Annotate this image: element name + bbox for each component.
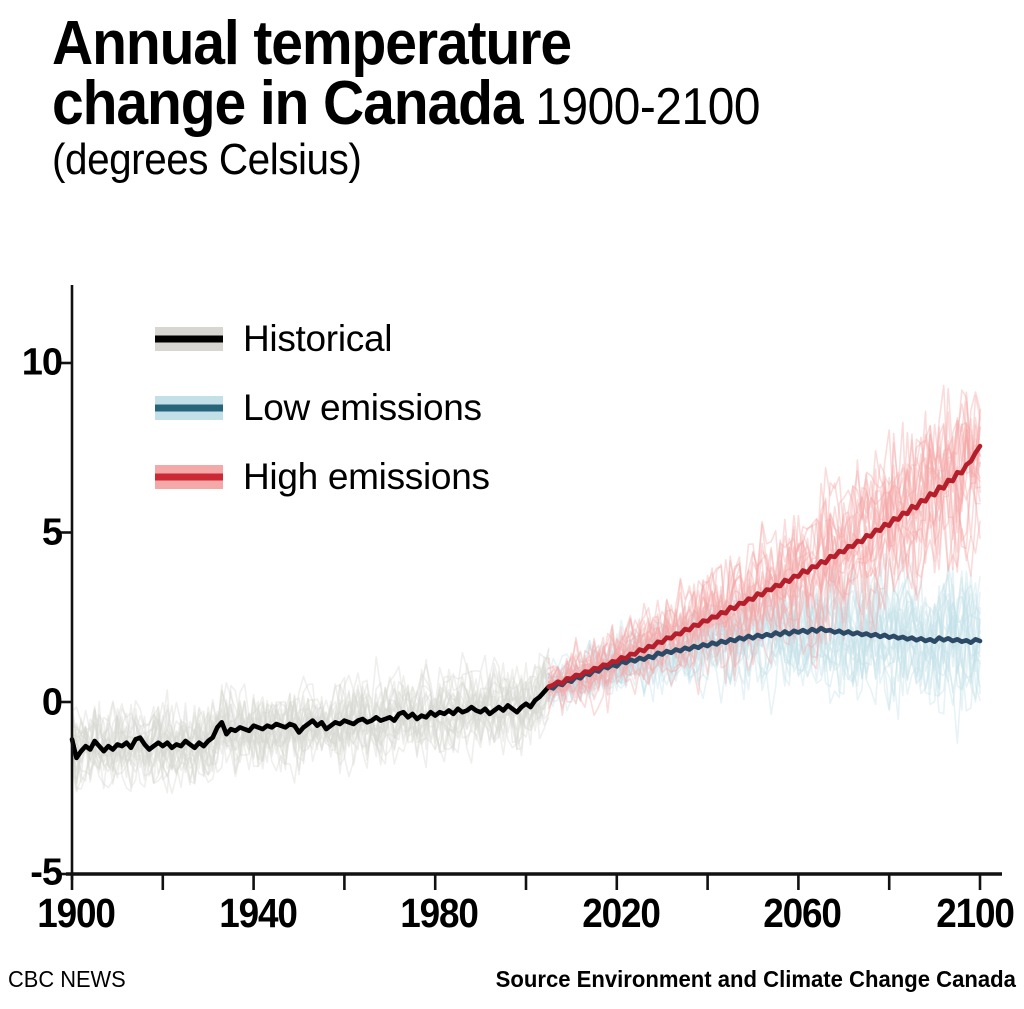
ytick-label-10: 10 <box>0 342 62 385</box>
xtick-label-2020: 2020 <box>582 890 659 937</box>
legend-line-historical <box>155 336 223 343</box>
legend-item-high-emissions: High emissions <box>155 456 490 498</box>
legend-swatch-high-emissions <box>155 465 223 489</box>
legend-swatch-historical <box>155 327 223 351</box>
xtick-label-1980: 1980 <box>400 890 477 937</box>
chart-plot-svg <box>0 0 1024 1009</box>
xtick-label-1900: 1900 <box>37 890 114 937</box>
footer-source: Source Environment and Climate Change Ca… <box>496 966 1016 993</box>
legend-label-high-emissions: High emissions <box>243 456 490 498</box>
legend-line-low-emissions <box>155 405 223 412</box>
xtick-label-2100: 2100 <box>936 890 1013 937</box>
legend-item-historical: Historical <box>155 318 490 360</box>
chart-legend: Historical Low emissions High emissions <box>155 318 490 498</box>
xtick-label-2060: 2060 <box>763 890 840 937</box>
ytick-label-5: 5 <box>0 512 62 555</box>
temperature-change-chart: 10 5 0 -5 1900 1940 1980 2020 2060 2100 … <box>0 0 1024 1009</box>
ytick-label-0: 0 <box>0 682 62 725</box>
legend-label-low-emissions: Low emissions <box>243 387 482 429</box>
xtick-label-1940: 1940 <box>219 890 296 937</box>
legend-line-high-emissions <box>155 474 223 481</box>
footer-brand: CBC NEWS <box>8 966 126 993</box>
legend-label-historical: Historical <box>243 318 392 360</box>
ytick-label-minus5: -5 <box>0 852 62 895</box>
legend-item-low-emissions: Low emissions <box>155 387 490 429</box>
legend-swatch-low-emissions <box>155 396 223 420</box>
